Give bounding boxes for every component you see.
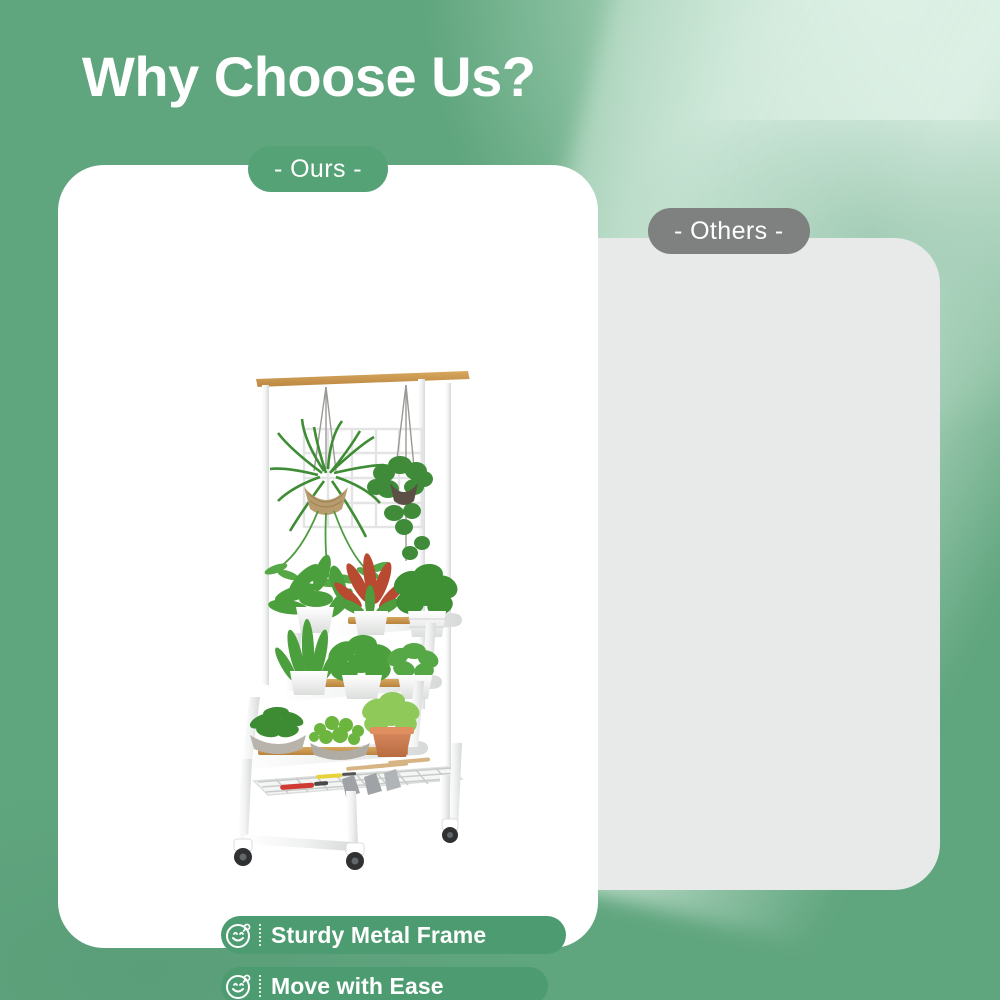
benefit-label-0: Sturdy Metal Frame [271,922,486,949]
benefit-label-1: Move with Ease [271,973,444,1000]
ours-card: Sturdy Metal Frame Move with Ease [58,165,598,948]
pill-divider [259,975,261,997]
others-card: Easy to Crack Wood Difficult to Move [598,238,940,890]
ours-badge: - Ours - [248,146,388,192]
pill-divider [259,924,261,946]
smiley-face-icon [221,967,257,1000]
infographic-stage: Why Choose Us? [0,0,1000,1000]
benefit-pill-0: Sturdy Metal Frame [221,916,566,954]
page-title: Why Choose Us? [82,48,535,107]
others-badge: - Others - [648,208,810,254]
smiley-face-icon [221,916,257,954]
ours-product-image [218,361,528,881]
benefit-pill-1: Move with Ease [221,967,548,1000]
